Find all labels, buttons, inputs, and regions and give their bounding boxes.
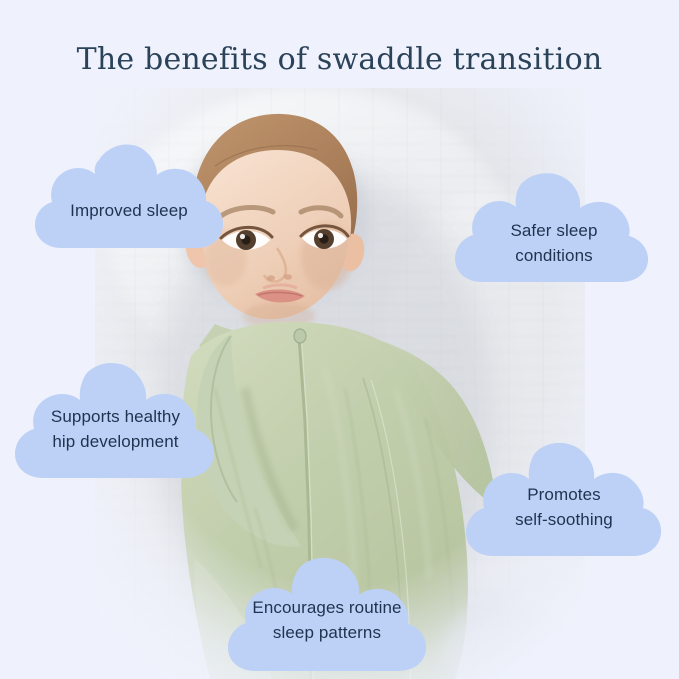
cloud-label: Promotes self-soothing	[459, 482, 669, 532]
swaddle-benefits-infographic: The benefits of swaddle transition Impro…	[0, 0, 679, 679]
cloud-supports-healthy-hip-development: Supports healthy hip development	[8, 358, 223, 483]
cloud-shape-icon	[27, 138, 231, 253]
cloud-label: Encourages routine sleep patterns	[219, 595, 435, 645]
cloud-promotes-self-soothing: Promotes self-soothing	[459, 438, 669, 560]
cloud-label-line: self-soothing	[459, 507, 669, 532]
cloud-improved-sleep: Improved sleep	[27, 138, 231, 253]
cloud-label-line: Safer sleep	[446, 218, 662, 243]
cloud-label-line: sleep patterns	[219, 620, 435, 645]
cloud-label: Improved sleep	[27, 198, 231, 223]
cloud-label-line: Encourages routine	[219, 595, 435, 620]
cloud-label-line: hip development	[8, 429, 223, 454]
cloud-label: Safer sleep conditions	[446, 218, 662, 268]
page-title: The benefits of swaddle transition	[0, 42, 679, 77]
cloud-label-line: Promotes	[459, 482, 669, 507]
cloud-safer-sleep-conditions: Safer sleep conditions	[446, 168, 662, 286]
cloud-label-line: Supports healthy	[8, 404, 223, 429]
cloud-label-line: conditions	[446, 243, 662, 268]
cloud-label: Supports healthy hip development	[8, 404, 223, 454]
cloud-encourages-routine-sleep-patterns: Encourages routine sleep patterns	[219, 553, 435, 675]
cloud-label-line: Improved sleep	[27, 198, 231, 223]
